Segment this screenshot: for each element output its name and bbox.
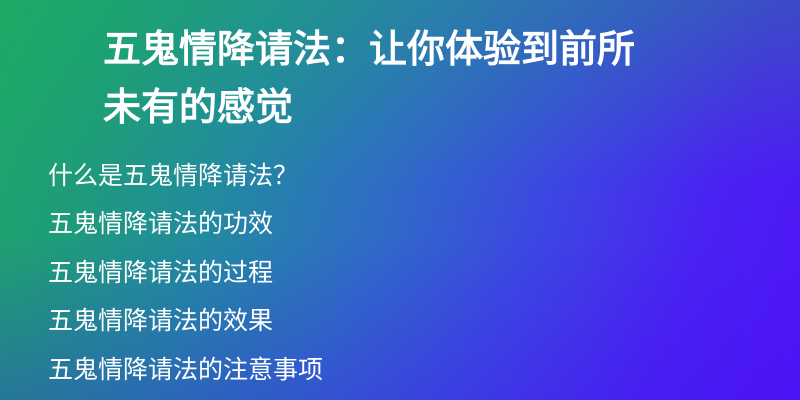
list-item: 五鬼情降请法的过程 bbox=[48, 249, 778, 297]
list-item: 什么是五鬼情降请法？ bbox=[48, 152, 778, 200]
list-item: 五鬼情降请法的效果 bbox=[48, 297, 778, 345]
section-list: 什么是五鬼情降请法？ 五鬼情降请法的功效 五鬼情降请法的过程 五鬼情降请法的效果… bbox=[48, 152, 778, 394]
title-line-1: 五鬼情降请法：让你体验到前所 bbox=[103, 21, 743, 79]
page-title: 五鬼情降请法：让你体验到前所 未有的感觉 bbox=[103, 21, 743, 137]
article-title-card: 五鬼情降请法：让你体验到前所 未有的感觉 什么是五鬼情降请法？ 五鬼情降请法的功… bbox=[0, 0, 800, 400]
title-line-2: 未有的感觉 bbox=[103, 79, 743, 137]
list-item: 五鬼情降请法的注意事项 bbox=[48, 346, 778, 394]
card-content: 五鬼情降请法：让你体验到前所 未有的感觉 什么是五鬼情降请法？ 五鬼情降请法的功… bbox=[0, 0, 800, 400]
list-item: 五鬼情降请法的功效 bbox=[48, 200, 778, 248]
